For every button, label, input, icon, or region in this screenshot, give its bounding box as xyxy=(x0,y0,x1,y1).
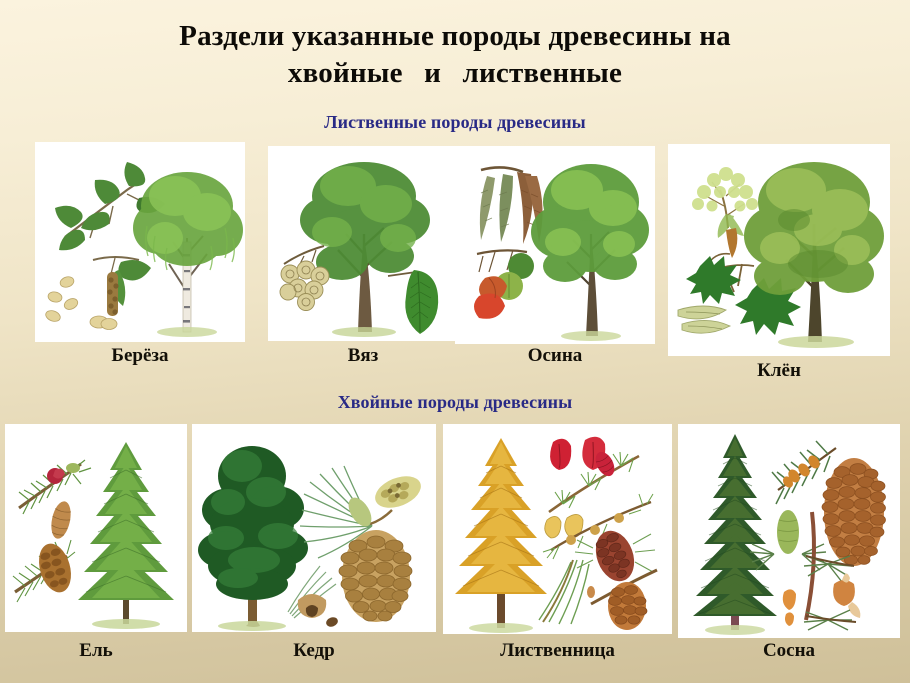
cedar-illustration xyxy=(192,424,436,632)
caption-pine: Сосна xyxy=(678,640,900,662)
section-heading-coniferous: Хвойные породы древесины xyxy=(0,392,910,413)
elm-illustration xyxy=(268,146,458,341)
caption-maple: Клён xyxy=(668,360,890,382)
card-birch[interactable] xyxy=(35,142,245,342)
caption-larch: Лиственница xyxy=(443,640,672,662)
card-spruce[interactable] xyxy=(5,424,187,632)
card-cedar[interactable] xyxy=(192,424,436,632)
card-aspen[interactable] xyxy=(455,146,655,344)
caption-spruce: Ель xyxy=(5,640,187,662)
caption-elm: Вяз xyxy=(268,345,458,367)
pine-illustration xyxy=(678,424,900,638)
card-larch[interactable] xyxy=(443,424,672,634)
maple-illustration xyxy=(668,144,890,356)
larch-illustration xyxy=(443,424,672,634)
page-title-line2: хвойные и лиственные xyxy=(50,55,860,92)
section-heading-deciduous: Лиственные породы древесины xyxy=(0,112,910,133)
page-title: Раздели указанные породы древесины на хв… xyxy=(50,18,860,91)
card-pine[interactable] xyxy=(678,424,900,638)
birch-illustration xyxy=(35,142,245,342)
card-elm[interactable] xyxy=(268,146,458,341)
page-title-line1: Раздели указанные породы древесины на xyxy=(179,20,731,52)
card-maple[interactable] xyxy=(668,144,890,356)
caption-birch: Берёза xyxy=(35,345,245,367)
caption-cedar: Кедр xyxy=(192,640,436,662)
aspen-illustration xyxy=(455,146,655,344)
slide-root: Раздели указанные породы древесины на хв… xyxy=(0,0,910,683)
caption-aspen: Осина xyxy=(455,345,655,367)
spruce-illustration xyxy=(5,424,187,632)
